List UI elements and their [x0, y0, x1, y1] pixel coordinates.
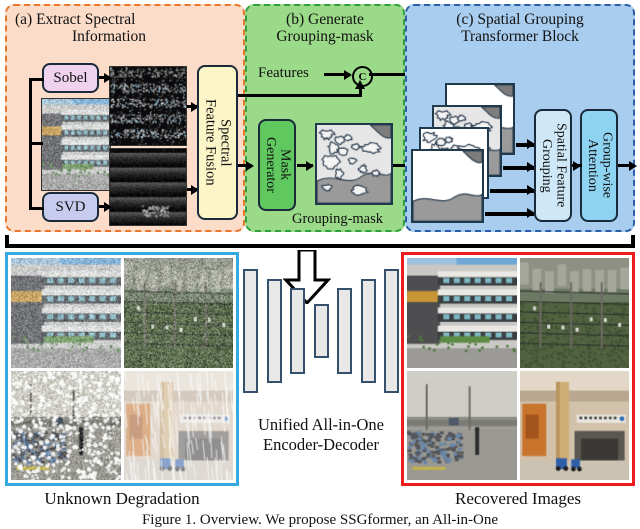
panel-b-title: (b) Generate Grouping-mask: [247, 11, 403, 45]
split-line-to-sobel: [29, 78, 44, 81]
spatial-feature-grouping-label: Spatial FeatureGrouping: [539, 123, 568, 207]
group-wise-attention-label: Group-wiseAttention: [585, 132, 614, 198]
encoder-decoder-bar: [314, 304, 329, 358]
arrow-head-skip-to-concat: [355, 80, 365, 89]
encoder-decoder-label-line1: Unified All-in-One: [235, 415, 407, 435]
sobel-feature-map: [109, 66, 187, 146]
features-label: Features: [258, 65, 309, 82]
arrow-head-svd-to-map: [104, 202, 112, 212]
recovered-image-3: [407, 371, 517, 481]
degraded-image-2: [124, 258, 234, 368]
panel-c-title-line2: Transformer Block: [407, 28, 633, 45]
encoder-decoder-bar: [243, 269, 258, 392]
arrow-head-sobel-to-map: [104, 73, 112, 83]
skip-line-horizontal: [238, 94, 362, 97]
mask-generator-label: MaskGenerator: [263, 137, 292, 193]
split-line-to-svd: [29, 207, 44, 210]
recovered-images-panel: [401, 252, 635, 486]
unified-encoder-decoder-label: Unified All-in-One Encoder-Decoder: [235, 415, 407, 455]
unknown-degradation-panel: [5, 252, 239, 486]
arrow-head-maskgen-to-mask: [306, 161, 314, 171]
degraded-image-1: [11, 258, 121, 368]
recovered-images-caption: Recovered Images: [401, 489, 635, 509]
bracket-bar: [5, 244, 635, 248]
panel-b-title-line1: (b) Generate: [247, 11, 403, 28]
split-line-from-photo: [29, 142, 43, 145]
encoder-decoder-bar: [384, 269, 399, 392]
input-degraded-photo: [41, 98, 111, 191]
spectral-feature-fusion-label: SpectralFeature Fusion: [203, 99, 233, 186]
figure-root: (a) Extract Spectral Information Sobel S…: [0, 0, 640, 528]
encoder-decoder-bar: [267, 279, 282, 383]
spectral-feature-fusion-block: SpectralFeature Fusion: [197, 65, 238, 220]
panel-a-title: (a) Extract Spectral Information: [7, 11, 243, 45]
bracket-tick-right: [631, 235, 635, 248]
figure-caption: Figure 1. Overview. We propose SSGformer…: [0, 512, 640, 529]
encoder-decoder-bar: [290, 288, 305, 375]
group-wise-attention-block: Group-wiseAttention: [580, 109, 618, 222]
recovered-image-4: [520, 371, 630, 481]
panel-a-title-line2: Information: [15, 28, 243, 45]
encoder-decoder-label-line2: Encoder-Decoder: [235, 435, 407, 455]
degraded-image-4: [124, 371, 234, 481]
panel-a-title-line1: (a) Extract Spectral: [15, 11, 243, 28]
arrow-head-features-to-concat: [344, 70, 352, 80]
unknown-degradation-caption: Unknown Degradation: [5, 489, 239, 509]
spatial-feature-grouping-block: Spatial FeatureGrouping: [534, 109, 572, 222]
encoder-decoder-bar: [361, 279, 376, 383]
grouping-mask-label: Grouping-mask: [292, 211, 383, 228]
recovered-image-1: [407, 258, 517, 368]
degraded-image-3: [11, 371, 121, 481]
mask-slice-1: [411, 149, 484, 223]
panel-c-title-line1: (c) Spatial Grouping: [407, 11, 633, 28]
panel-c-title: (c) Spatial Grouping Transformer Block: [407, 11, 633, 45]
arrow-head-grouping-to-attention: [573, 161, 581, 171]
recovered-image-2: [520, 258, 630, 368]
arrow-head-attention-out: [629, 161, 637, 171]
encoder-decoder-bar: [337, 288, 352, 375]
panel-b-title-line2: Grouping-mask: [247, 28, 403, 45]
grouping-mask-image: [315, 123, 393, 205]
arrow-head-fusion-to-maskgen: [246, 161, 254, 171]
svd-block: SVD: [42, 192, 99, 222]
mask-generator-block: MaskGenerator: [258, 119, 296, 211]
sobel-block: Sobel: [42, 63, 99, 93]
scope-bracket: [5, 235, 635, 249]
svd-feature-map: [109, 148, 187, 226]
bracket-tick-left: [5, 235, 9, 248]
